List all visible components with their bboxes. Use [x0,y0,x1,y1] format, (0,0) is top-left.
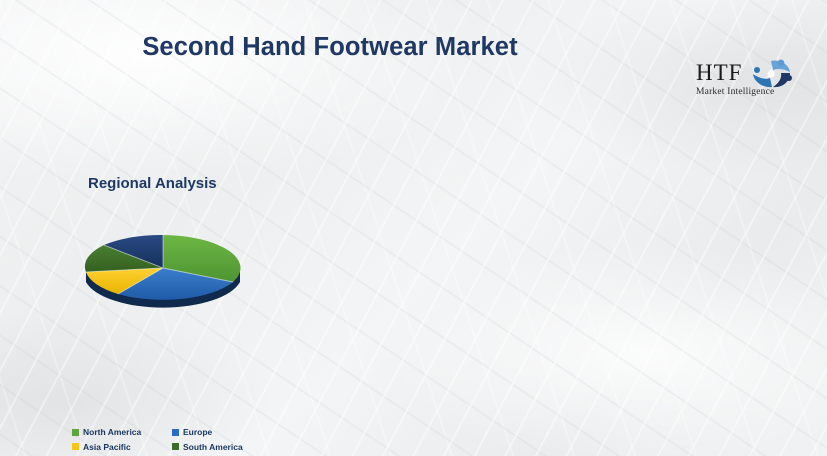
legend-item-north-america: North America [72,428,172,437]
legend-swatch-south-america [172,443,179,450]
legend-swatch-asia-pacific [72,443,79,450]
legend-label-europe: Europe [183,428,212,437]
htf-logo: HTF Market Intelligence [696,59,796,105]
htf-swirl-icon [748,57,794,89]
regional-pie-legend: North America Europe Asia Pacific South … [72,428,272,456]
page-title: Second Hand Footwear Market [0,33,660,62]
legend-swatch-europe [172,429,179,436]
legend-swatch-north-america [72,429,79,436]
legend-item-europe: Europe [172,428,272,437]
legend-item-asia-pacific: Asia Pacific [72,443,172,452]
infographic-poster: Second Hand Footwear Market HTF Market I… [0,0,827,456]
regional-analysis-heading: Regional Analysis [88,175,827,192]
logo-brand-text: HTF [696,61,742,84]
legend-label-south-america: South America [183,443,243,452]
regional-pie-chart [78,216,248,321]
legend-item-south-america: South America [172,443,272,452]
legend-label-asia-pacific: Asia Pacific [83,443,131,452]
legend-label-north-america: North America [83,428,141,437]
